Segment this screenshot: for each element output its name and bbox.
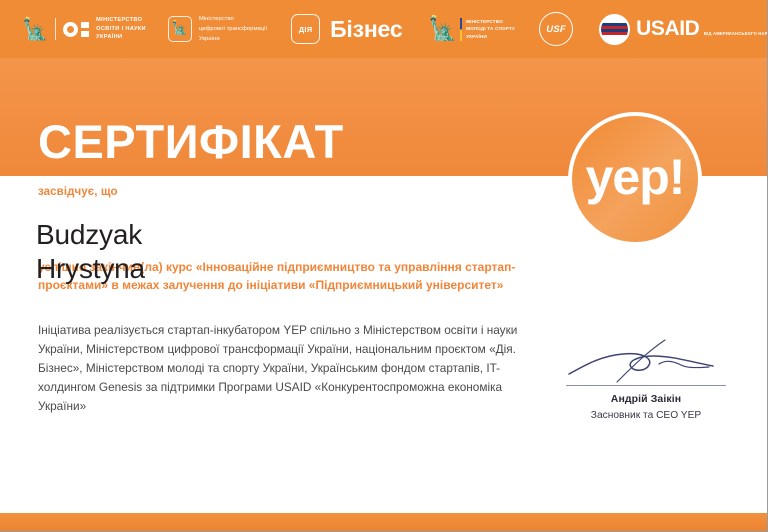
page-title: СЕРТИФІКАТ [38, 118, 344, 165]
trident-icon: 🗽 [172, 22, 188, 35]
logo-diia-biznes: ДІЯ Бізнес [291, 14, 402, 44]
initiative-description: Ініціатива реалізується стартап-інкубато… [38, 321, 536, 417]
logo-divider [55, 18, 56, 40]
logo-ministry-of-youth-and-sports-text: МІНІСТЕРСТВО МОЛОДІ ТА СПОРТУ УКРАЇНИ [466, 18, 515, 40]
footer-band [0, 513, 768, 532]
signature-block: Андрій Заікін Засновник та CEO YEP [556, 338, 736, 423]
usaid-word: USAID [636, 17, 699, 40]
yep-logo-label: yep! [586, 152, 685, 202]
attest-label: засвідчує, що [38, 186, 118, 198]
certificate-document: 🗽 МІНІСТЕРСТВО ОСВІТИ І НАУКИ УКРАЇНИ 🗽 … [0, 0, 768, 532]
logo-ukrainian-startup-fund: USF [539, 12, 573, 46]
signatory-name: Андрій Заікін [556, 392, 736, 408]
flag-stripe-icon [460, 18, 462, 41]
trident-badge-icon: 🗽 [168, 16, 192, 42]
logo-ministry-of-education-text: МІНІСТЕРСТВО ОСВІТИ І НАУКИ УКРАЇНИ [96, 16, 146, 42]
signature-rule [566, 385, 726, 386]
diia-badge-icon: ДІЯ [291, 14, 320, 44]
yep-logo-badge: yep! [568, 112, 702, 246]
usaid-seal-icon [599, 14, 630, 45]
recipient-name: Budzyak Hrystyna [36, 218, 145, 286]
partner-logo-bar: 🗽 МІНІСТЕРСТВО ОСВІТИ І НАУКИ УКРАЇНИ 🗽 … [0, 0, 768, 58]
trident-icon: 🗽 [22, 19, 48, 40]
mon-emblem-icon [63, 22, 89, 37]
logo-usaid: USAID ВІД АМЕРИКАНСЬКОГО НАРОДУ [599, 14, 768, 45]
signature-mark-icon [561, 338, 731, 384]
usaid-subtitle: ВІД АМЕРИКАНСЬКОГО НАРОДУ [704, 31, 768, 36]
logo-ministry-of-youth-and-sports: 🗽 МІНІСТЕРСТВО МОЛОДІ ТА СПОРТУ УКРАЇНИ [428, 18, 515, 41]
diia-biznes-word: Бізнес [330, 16, 402, 43]
usf-circle-icon: USF [539, 12, 573, 46]
trident-icon: 🗽 [428, 18, 457, 41]
logo-ministry-of-digital-transformation: 🗽 Міністерство цифрової трансформації Ук… [168, 14, 267, 45]
logo-ministry-of-digital-transformation-text: Міністерство цифрової трансформації Укра… [199, 14, 267, 45]
logo-ministry-of-education-and-science: 🗽 МІНІСТЕРСТВО ОСВІТИ І НАУКИ УКРАЇНИ [22, 16, 146, 42]
signatory-role: Засновник та CEO YEP [556, 408, 736, 423]
